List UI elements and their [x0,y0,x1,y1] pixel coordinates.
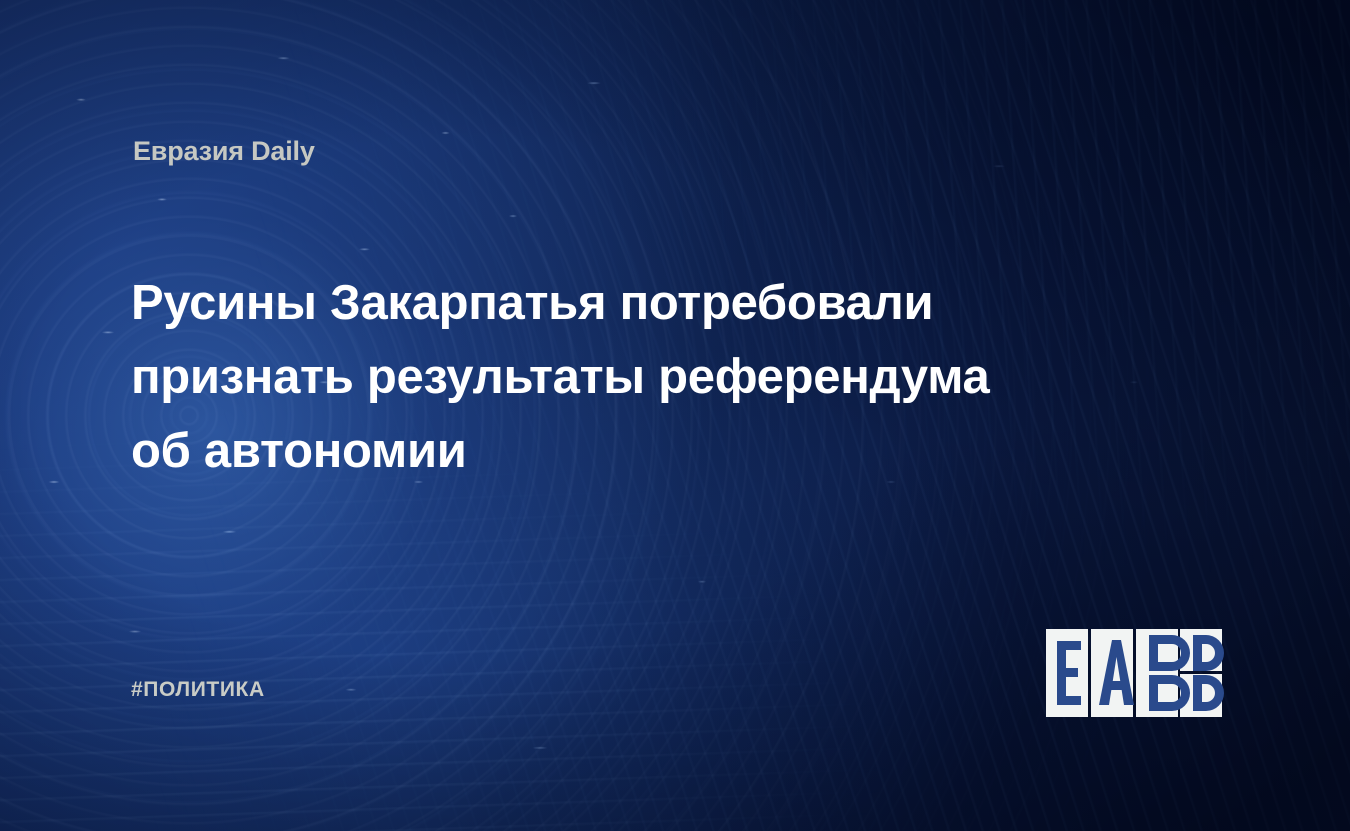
headline-line-3: об автономии [131,414,1111,488]
news-share-card: Евразия Daily Русины Закарпатья потребов… [0,0,1350,831]
category-hashtag: #ПОЛИТИКА [131,678,265,702]
publication-name: Евразия Daily [133,136,315,167]
eadaily-logo [1046,629,1228,717]
headline: Русины Закарпатья потребовали признать р… [131,266,1111,488]
headline-line-2: признать результаты референдума [131,340,1111,414]
headline-line-1: Русины Закарпатья потребовали [131,266,1111,340]
